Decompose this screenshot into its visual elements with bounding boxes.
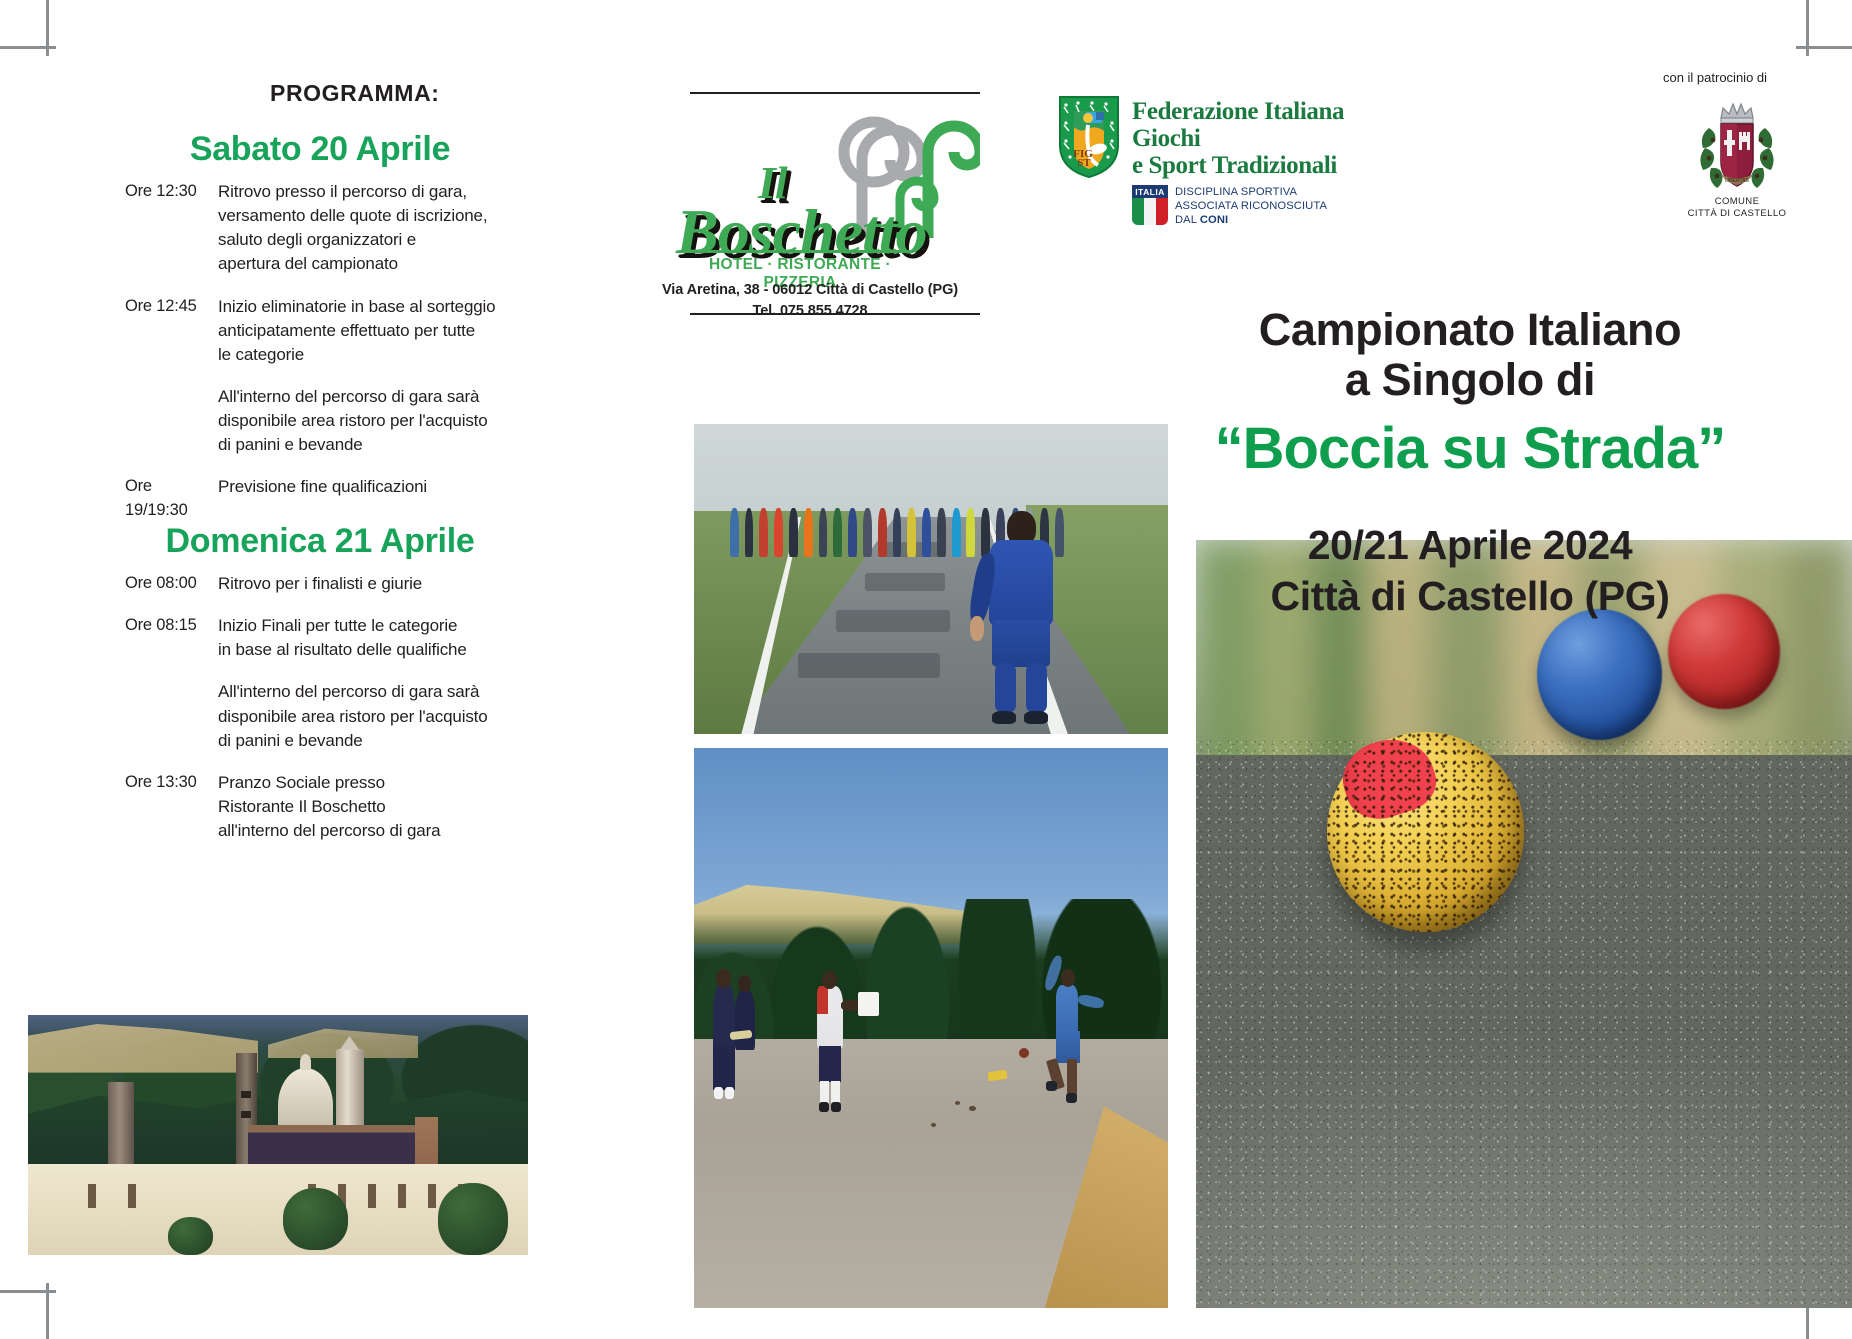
comune-caption-line-2: CITTÀ DI CASTELLO bbox=[1672, 208, 1802, 220]
schedule-desc: Inizio eliminatorie in base al sorteggio… bbox=[218, 295, 595, 367]
sponsor-address: Via Aretina, 38 - 06012 Città di Castell… bbox=[620, 280, 1000, 301]
divider-top bbox=[690, 92, 980, 94]
schedule-desc: Previsione fine qualificazioni bbox=[218, 475, 595, 522]
schedule-desc: All'interno del percorso di gara sarà di… bbox=[218, 385, 595, 457]
day-heading-sunday: Domenica 21 Aprile bbox=[150, 522, 490, 561]
sponsor-address-block: Via Aretina, 38 - 06012 Città di Castell… bbox=[620, 280, 1000, 322]
bocce-ball-blue bbox=[1537, 609, 1662, 740]
logo-underline bbox=[682, 250, 910, 253]
bocce-ball-yellow bbox=[1327, 732, 1524, 932]
schedule-hour: Ore 13:30 bbox=[125, 771, 218, 843]
schedule-row: Ore 19/19:30 Previsione fine qualificazi… bbox=[125, 475, 595, 522]
crop-mark-top-right-h bbox=[1796, 46, 1852, 49]
comune-caption: COMUNE CITTÀ DI CASTELLO bbox=[1672, 196, 1802, 221]
schedule-row: Ore 12:45 Inizio eliminatorie in base al… bbox=[125, 295, 595, 367]
comune-caption-line-1: COMUNE bbox=[1672, 196, 1802, 208]
patronage-label: con il patrocinio di bbox=[1620, 70, 1810, 85]
svg-text:ST: ST bbox=[1077, 157, 1091, 169]
photo-bocce-balls-on-asphalt bbox=[1196, 540, 1852, 1308]
figest-logo: FIG ST Federazione Italiana Giochi e Spo… bbox=[1058, 95, 1398, 215]
event-location: Città di Castello (PG) bbox=[1100, 571, 1840, 622]
photo-road-race-start-crowd bbox=[694, 424, 1168, 734]
event-title-line-2: a Singolo di bbox=[1100, 355, 1840, 405]
schedule-sunday: Ore 08:00 Ritrovo per i finalisti e giur… bbox=[125, 572, 595, 861]
il-boschetto-wordmark: Il Boschetto bbox=[640, 162, 900, 261]
federation-name-line-1: Federazione Italiana Giochi bbox=[1132, 98, 1398, 152]
schedule-desc: All'interno del percorso di gara sarà di… bbox=[218, 680, 595, 752]
coni-recognition-text: DISCIPLINA SPORTIVA ASSOCIATA RICONOSCIU… bbox=[1175, 185, 1327, 227]
schedule-row: Ore 13:30 Pranzo Sociale presso Ristoran… bbox=[125, 771, 595, 843]
comune-crest-icon: LIBERTAS bbox=[1691, 96, 1783, 194]
brochure-page: PROGRAMMA: Sabato 20 Aprile Ore 12:30 Ri… bbox=[0, 0, 1852, 1339]
schedule-row: Ore 12:30 Ritrovo presso il percorso di … bbox=[125, 180, 595, 277]
event-title-line-1: Campionato Italiano bbox=[1100, 305, 1840, 355]
coni-line-3-prefix: DAL bbox=[1175, 214, 1200, 226]
event-dates: 20/21 Aprile 2024 bbox=[1100, 520, 1840, 571]
figest-shield-icon: FIG ST bbox=[1058, 95, 1120, 179]
schedule-desc: Ritrovo presso il percorso di gara, vers… bbox=[218, 180, 595, 277]
player-figure bbox=[978, 511, 1063, 722]
day-heading-saturday: Sabato 20 Aprile bbox=[150, 130, 490, 169]
photo-citta-di-castello-skyline bbox=[28, 1015, 528, 1255]
schedule-hour bbox=[125, 385, 218, 457]
program-heading: PROGRAMMA: bbox=[270, 80, 440, 107]
photo-road-race-throw bbox=[694, 748, 1168, 1308]
schedule-hour: Ore 12:30 bbox=[125, 180, 218, 277]
schedule-row: Ore 08:00 Ritrovo per i finalisti e giur… bbox=[125, 572, 595, 596]
coni-line-1: DISCIPLINA SPORTIVA bbox=[1175, 185, 1327, 199]
schedule-hour: Ore 19/19:30 bbox=[125, 475, 218, 522]
italia-flag-icon: ITALIA bbox=[1132, 185, 1168, 225]
schedule-desc: Inizio Finali per tutte le categorie in … bbox=[218, 614, 595, 662]
federation-name-line-2: e Sport Tradizionali bbox=[1132, 152, 1398, 179]
schedule-saturday: Ore 12:30 Ritrovo presso il percorso di … bbox=[125, 180, 595, 540]
schedule-hour: Ore 12:45 bbox=[125, 295, 218, 367]
italia-flag-label: ITALIA bbox=[1132, 185, 1168, 198]
schedule-desc: Pranzo Sociale presso Ristorante Il Bosc… bbox=[218, 771, 595, 843]
event-date-location: 20/21 Aprile 2024 Città di Castello (PG) bbox=[1100, 520, 1840, 623]
coni-line-3-bold: CONI bbox=[1200, 214, 1228, 226]
schedule-hour: Ore 08:00 bbox=[125, 572, 218, 596]
sponsor-phone: Tel. 075 855 4728 bbox=[620, 301, 1000, 322]
comune-logo: LIBERTAS COMUNE CITTÀ DI CASTELLO bbox=[1672, 96, 1802, 221]
event-sport-title: “Boccia su Strada” bbox=[1100, 415, 1840, 482]
schedule-row: All'interno del percorso di gara sarà di… bbox=[125, 385, 595, 457]
thrown-ball bbox=[1019, 1048, 1029, 1058]
schedule-desc: Ritrovo per i finalisti e giurie bbox=[218, 572, 595, 596]
schedule-hour bbox=[125, 680, 218, 752]
coni-line-2: ASSOCIATA RICONOSCIUTA bbox=[1175, 199, 1327, 213]
event-title: Campionato Italiano a Singolo di bbox=[1100, 305, 1840, 406]
schedule-row: Ore 08:15 Inizio Finali per tutte le cat… bbox=[125, 614, 595, 662]
schedule-hour: Ore 08:15 bbox=[125, 614, 218, 662]
schedule-row: All'interno del percorso di gara sarà di… bbox=[125, 680, 595, 752]
svg-text:LIBERTAS: LIBERTAS bbox=[1725, 178, 1749, 184]
il-boschetto-logo: Il Boschetto HOTEL · RISTORANTE · PIZZER… bbox=[640, 100, 980, 290]
